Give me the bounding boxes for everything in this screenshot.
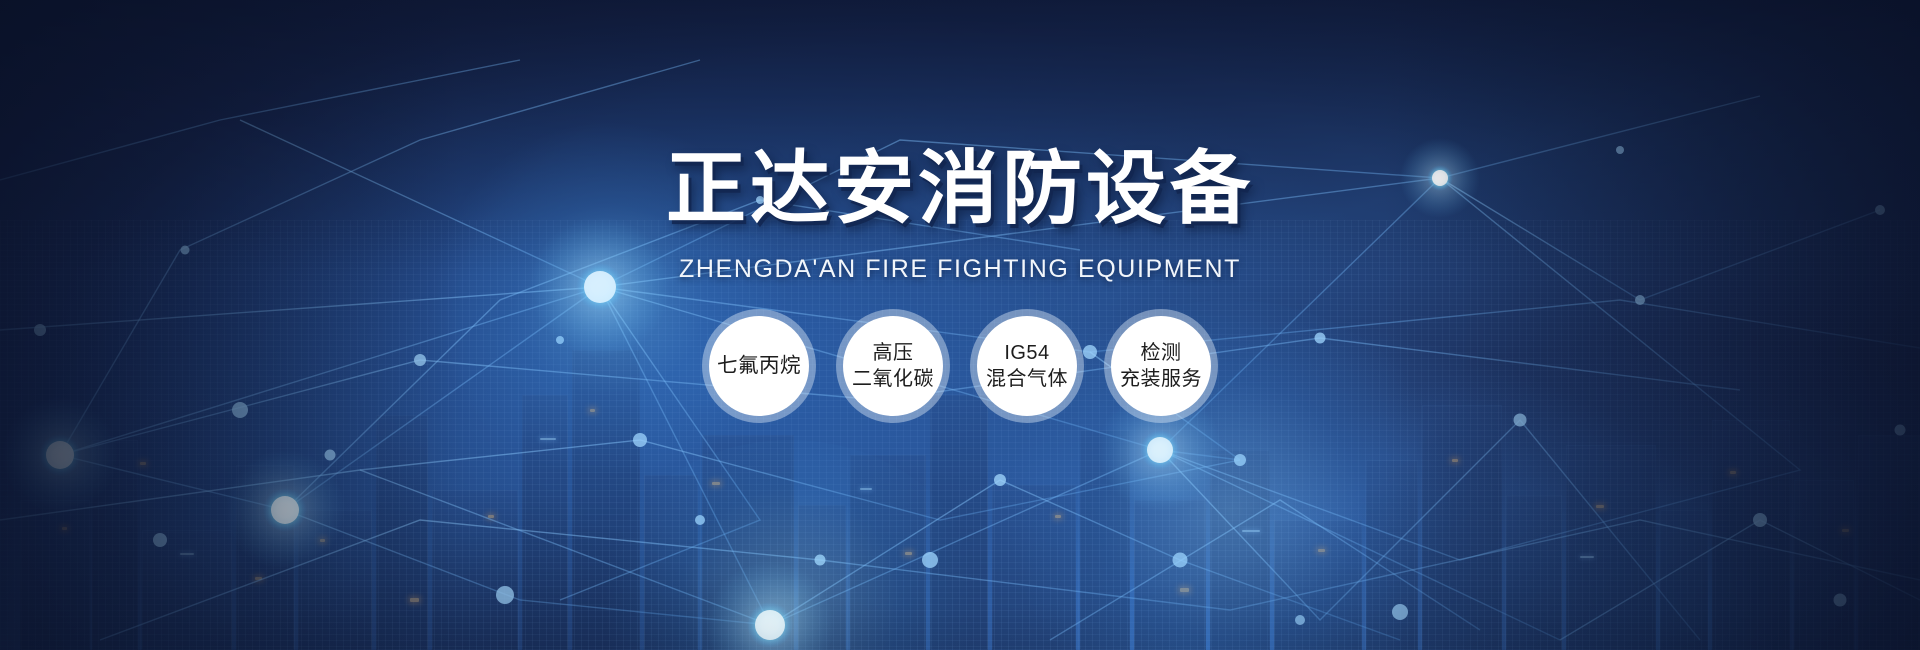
badge-line1: 高压: [873, 340, 914, 366]
badge-line2: 充装服务: [1120, 366, 1202, 392]
badge-item-high-pressure-co2[interactable]: 高压 二氧化碳: [843, 316, 943, 416]
badge-line1: IG54: [1004, 340, 1049, 366]
badge-line2: 二氧化碳: [852, 366, 934, 392]
badge-line1: 检测: [1141, 340, 1182, 366]
badge-item-ig54-mixed-gas[interactable]: IG54 混合气体: [977, 316, 1077, 416]
badge-list: 七氟丙烷 高压 二氧化碳 IG54 混合气体 检测 充装服务: [0, 316, 1920, 416]
badge-line2: 混合气体: [986, 366, 1068, 392]
hero-banner: 正达安消防设备 ZHENGDA'AN FIRE FIGHTING EQUIPME…: [0, 0, 1920, 650]
page-subtitle: ZHENGDA'AN FIRE FIGHTING EQUIPMENT: [0, 255, 1920, 284]
badge-item-heptafluoropropane[interactable]: 七氟丙烷: [709, 316, 809, 416]
badge-item-inspection-filling-service[interactable]: 检测 充装服务: [1111, 316, 1211, 416]
page-title: 正达安消防设备: [0, 149, 1920, 229]
badge-line1: 七氟丙烷: [717, 352, 801, 379]
